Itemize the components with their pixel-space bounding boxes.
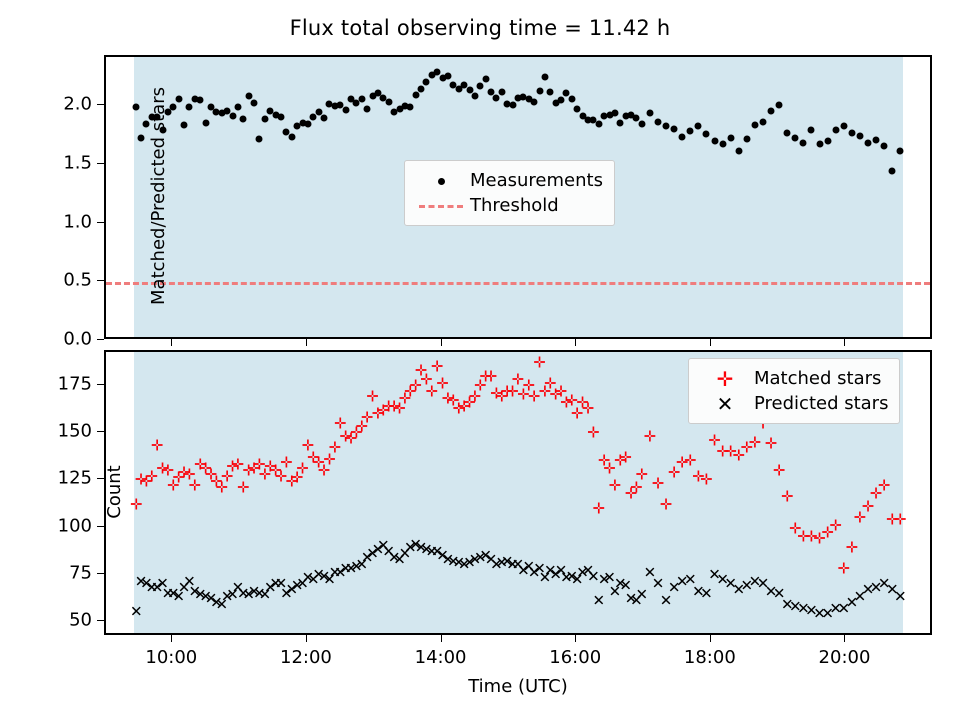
y-tick-label: 1.0 <box>22 211 92 232</box>
x-tick-label: 18:00 <box>655 647 765 668</box>
y-tick-label: 125 <box>22 468 92 489</box>
x-tick-label: 16:00 <box>520 647 630 668</box>
y-tick-mark <box>97 104 104 105</box>
y-tick-label: 100 <box>22 515 92 536</box>
y-tick-mark <box>97 339 104 340</box>
y-tick-mark <box>97 280 104 281</box>
x-tick-mark <box>575 339 576 346</box>
x-tick-mark <box>171 635 172 642</box>
x-tick-mark <box>844 339 845 346</box>
y-tick-label: 50 <box>22 609 92 630</box>
y-tick-mark <box>97 222 104 223</box>
x-axis-label: Time (UTC) <box>104 676 932 697</box>
y-tick-label: 0.0 <box>22 329 92 350</box>
ratio-legend: Measurements Threshold <box>404 160 615 226</box>
ratio-y-axis-label: Matched/Predicted stars <box>148 46 169 346</box>
y-tick-mark <box>97 526 104 527</box>
y-tick-label: 175 <box>22 373 92 394</box>
count-legend: ✛ Matched stars ✕ Predicted stars <box>688 358 900 424</box>
x-tick-mark <box>171 339 172 346</box>
x-tick-label: 14:00 <box>386 647 496 668</box>
x-tick-mark <box>441 635 442 642</box>
x-tick-mark <box>710 339 711 346</box>
x-tick-mark <box>575 635 576 642</box>
dashed-line-icon <box>414 198 468 214</box>
figure-canvas: Flux total observing time = 11.42 h ✛✛✛✛… <box>0 0 960 720</box>
threshold-line <box>106 282 930 285</box>
y-tick-mark <box>97 384 104 385</box>
legend-item-threshold: Threshold <box>414 193 603 218</box>
x-tick-label: 20:00 <box>789 647 899 668</box>
y-tick-label: 150 <box>22 421 92 442</box>
y-tick-mark <box>97 478 104 479</box>
legend-item-matched-stars: ✛ Matched stars <box>698 366 888 391</box>
y-tick-label: 1.5 <box>22 152 92 173</box>
legend-label-matched-stars: Matched stars <box>752 368 881 389</box>
plus-marker-icon: ✛ <box>698 369 752 389</box>
legend-item-measurements: Measurements <box>414 168 603 193</box>
x-tick-mark <box>306 339 307 346</box>
page-title: Flux total observing time = 11.42 h <box>0 16 960 40</box>
x-tick-label: 10:00 <box>116 647 226 668</box>
x-tick-label: 12:00 <box>251 647 361 668</box>
y-tick-mark <box>97 431 104 432</box>
x-tick-mark <box>306 635 307 642</box>
y-tick-mark <box>97 163 104 164</box>
x-tick-mark <box>441 339 442 346</box>
legend-label-measurements: Measurements <box>468 170 603 191</box>
dot-marker-icon <box>414 173 468 189</box>
y-tick-mark <box>97 620 104 621</box>
x-tick-mark <box>710 635 711 642</box>
cross-marker-icon: ✕ <box>698 394 752 414</box>
legend-label-predicted-stars: Predicted stars <box>752 393 888 414</box>
y-tick-label: 0.5 <box>22 270 92 291</box>
y-tick-mark <box>97 573 104 574</box>
y-tick-label: 2.0 <box>22 94 92 115</box>
legend-item-predicted-stars: ✕ Predicted stars <box>698 391 888 416</box>
count-y-axis-label: Count <box>104 392 125 592</box>
y-tick-label: 75 <box>22 562 92 583</box>
x-tick-mark <box>844 635 845 642</box>
legend-label-threshold: Threshold <box>468 195 559 216</box>
